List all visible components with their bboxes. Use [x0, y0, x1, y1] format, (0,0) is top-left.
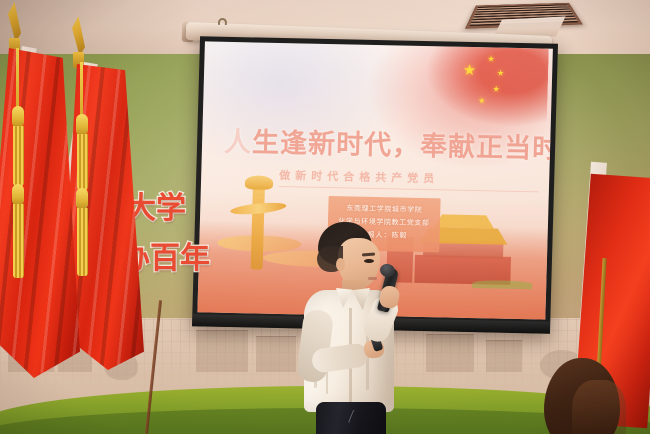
presenter-eye [364, 259, 374, 263]
prc-flag-graphic [418, 46, 548, 135]
mural-building [486, 340, 522, 372]
tiananmen-upper-roof [434, 214, 494, 228]
flag-tassel-fringe [77, 208, 88, 276]
flag-star-icon: ★ [497, 70, 504, 78]
presenter-ear [336, 258, 345, 271]
flag-tassel-knot [76, 114, 88, 136]
flag-star-icon: ★ [492, 85, 499, 93]
flag-tassel-fringe [13, 204, 24, 278]
flag-star-icon: ★ [463, 63, 477, 78]
flag-tassel-fringe [13, 126, 24, 186]
flag-star-icon: ★ [487, 55, 494, 63]
tiananmen-foreground-green [472, 280, 532, 289]
huabiao-top [245, 175, 273, 190]
flag-tassel-knot [12, 184, 24, 206]
flag-tassel-knot [76, 188, 88, 210]
audience-member-hair [572, 380, 626, 434]
mural-building [196, 330, 248, 372]
mural-building [256, 336, 296, 372]
flag-tassel-cord [80, 62, 83, 118]
flag-tassel-cord [16, 48, 19, 110]
mural-building [426, 334, 474, 372]
slide-title-lead: 人 [224, 127, 253, 158]
slide-title: 人生逢新时代，奉献正当时 [224, 120, 545, 166]
flag-tassel-fringe [77, 134, 88, 190]
presentation-scene: ★ ★ ★ ★ ★ 人生逢新时代，奉献正当时 做新时代合格共产党员 东莞理工学院… [0, 0, 650, 434]
presenter [292, 222, 410, 434]
slide-title-main: 生逢新时代，奉献正当时 [252, 127, 553, 163]
screen-hook-icon [218, 18, 227, 25]
huabiao-column-graphic [251, 183, 265, 269]
flag-star-icon: ★ [478, 97, 485, 105]
flag-tassel-knot [12, 106, 24, 128]
presenter-mouth [368, 277, 377, 280]
